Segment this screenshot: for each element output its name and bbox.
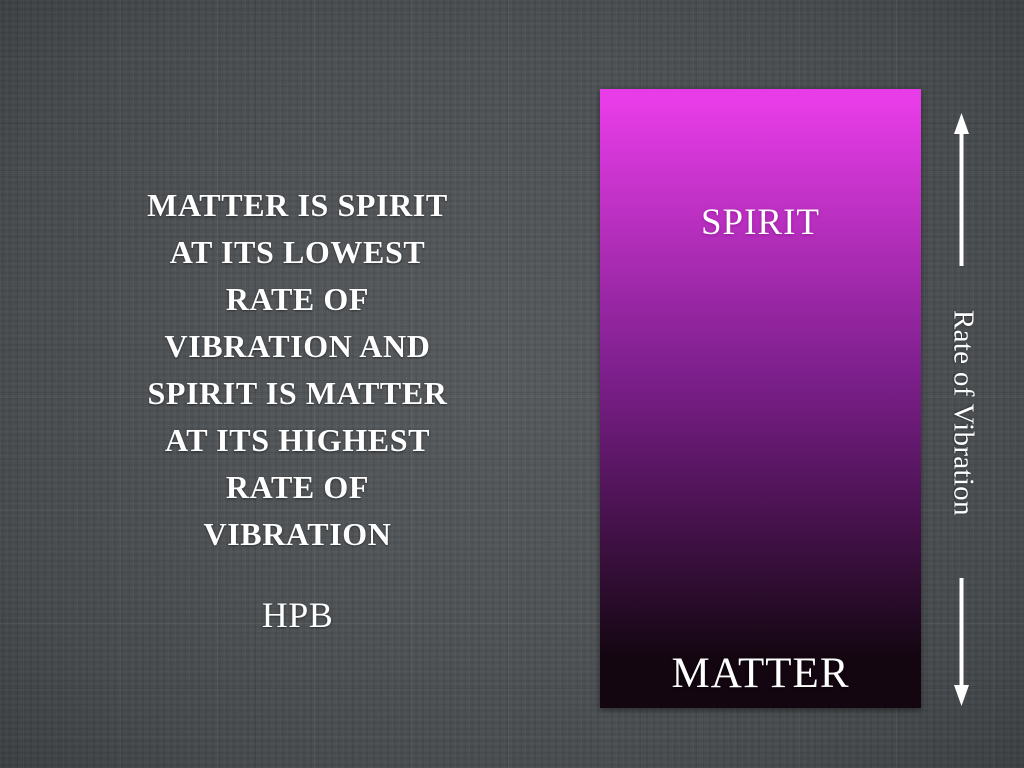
quote-line: RATE OF xyxy=(60,464,535,511)
spectrum-label-spirit: SPIRIT xyxy=(600,201,921,244)
quote-text-block: MATTER IS SPIRIT AT ITS LOWEST RATE OF V… xyxy=(60,182,535,558)
spectrum-gradient-fill xyxy=(600,89,921,708)
spectrum-label-matter: MATTER xyxy=(600,649,921,698)
quote-line: RATE OF xyxy=(60,276,535,323)
axis-caption-wrapper: Rate of Vibration xyxy=(930,100,994,725)
quote-line: AT ITS HIGHEST xyxy=(60,417,535,464)
quote-line: SPIRIT IS MATTER xyxy=(60,370,535,417)
quote-line: VIBRATION xyxy=(60,511,535,558)
quote-line: MATTER IS SPIRIT xyxy=(60,182,535,229)
rate-of-vibration-axis: Rate of Vibration xyxy=(930,100,994,725)
quote-line: VIBRATION AND xyxy=(60,323,535,370)
axis-caption-text: Rate of Vibration xyxy=(947,310,980,516)
spirit-matter-spectrum: SPIRIT MATTER xyxy=(600,89,921,708)
quote-line: AT ITS LOWEST xyxy=(60,229,535,276)
slide-canvas: MATTER IS SPIRIT AT ITS LOWEST RATE OF V… xyxy=(0,0,1024,768)
quote-attribution: HPB xyxy=(60,594,535,636)
